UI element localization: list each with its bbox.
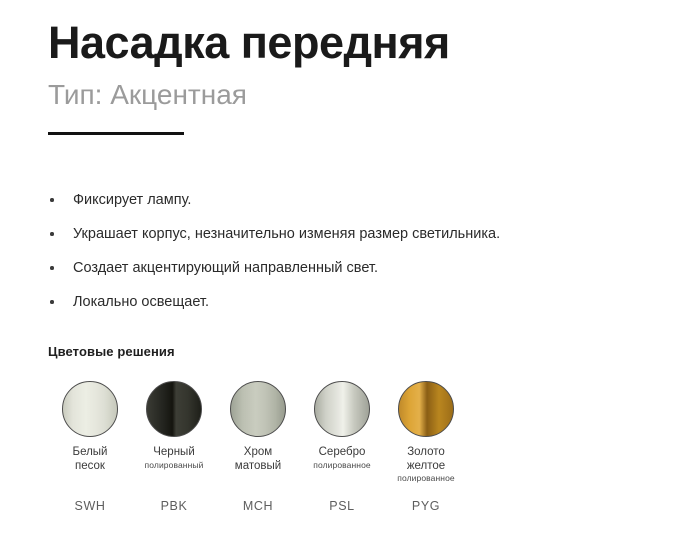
bullet-icon [50, 198, 54, 202]
feature-text: Фиксирует лампу. [73, 192, 191, 208]
color-code-row: SWH PBK MCH PSL PYG [48, 490, 468, 513]
swatch-code: MCH [216, 499, 300, 513]
bullet-icon [50, 300, 54, 304]
page-header: Насадка передняя Тип: Акцентная [48, 18, 668, 135]
code-cell: MCH [216, 490, 300, 513]
swatch-name-line2: желтое [397, 460, 455, 474]
bullet-icon [50, 266, 54, 270]
list-item: Создает акцентирующий направленный свет. [48, 258, 658, 279]
swatch-code: PYG [384, 499, 468, 513]
swatch-circle-icon[interactable] [62, 381, 118, 437]
color-options-section: Цветовые решения Белый песок Черный поли… [48, 344, 668, 483]
swatch-name: Золото [397, 446, 455, 460]
code-cell: PBK [132, 490, 216, 513]
swatch-code: PBK [132, 499, 216, 513]
color-swatch-swh[interactable]: Белый песок [48, 381, 132, 473]
code-cell: PSL [300, 490, 384, 513]
list-item: Украшает корпус, незначительно изменяя р… [48, 224, 658, 245]
swatch-labels: Черный полированный [145, 446, 204, 470]
color-swatch-row: Белый песок Черный полированный Хром мат… [48, 381, 668, 483]
feature-text: Украшает корпус, незначительно изменяя р… [73, 226, 500, 242]
color-swatch-pyg[interactable]: Золото желтое полированное [384, 381, 468, 483]
swatch-name: Черный [145, 446, 204, 460]
color-swatch-pbk[interactable]: Черный полированный [132, 381, 216, 470]
swatch-qualifier: полированное [313, 460, 371, 470]
swatch-labels: Серебро полированное [313, 446, 371, 470]
page-title: Насадка передняя [48, 18, 668, 68]
list-item: Фиксирует лампу. [48, 190, 658, 211]
swatch-name-line2: песок [73, 460, 108, 474]
swatch-code: PSL [300, 499, 384, 513]
bullet-icon [50, 232, 54, 236]
color-options-heading: Цветовые решения [48, 344, 668, 359]
swatch-name: Хром [235, 446, 281, 460]
swatch-circle-icon[interactable] [230, 381, 286, 437]
swatch-circle-icon[interactable] [314, 381, 370, 437]
swatch-labels: Хром матовый [235, 446, 281, 473]
swatch-qualifier: полированный [145, 460, 204, 470]
product-spec-page: Насадка передняя Тип: Акцентная Фиксируе… [0, 0, 700, 544]
color-swatch-psl[interactable]: Серебро полированное [300, 381, 384, 470]
feature-text: Локально освещает. [73, 294, 209, 310]
swatch-qualifier: полированное [397, 473, 455, 483]
swatch-name: Серебро [313, 446, 371, 460]
list-item: Локально освещает. [48, 292, 658, 313]
swatch-circle-icon[interactable] [398, 381, 454, 437]
page-subtitle: Тип: Акцентная [48, 78, 668, 112]
color-swatch-mch[interactable]: Хром матовый [216, 381, 300, 473]
swatch-code: SWH [48, 499, 132, 513]
swatch-labels: Белый песок [73, 446, 108, 473]
feature-text: Создает акцентирующий направленный свет. [73, 260, 378, 276]
swatch-labels: Золото желтое полированное [397, 446, 455, 483]
swatch-circle-icon[interactable] [146, 381, 202, 437]
code-cell: PYG [384, 490, 468, 513]
swatch-name: Белый [73, 446, 108, 460]
header-divider [48, 132, 184, 135]
feature-list: Фиксирует лампу. Украшает корпус, незнач… [48, 190, 658, 326]
code-cell: SWH [48, 490, 132, 513]
swatch-name-line2: матовый [235, 460, 281, 474]
